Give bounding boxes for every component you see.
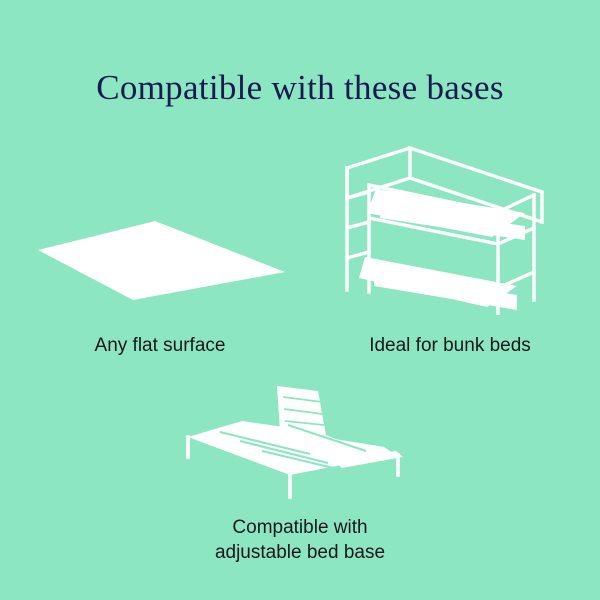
caption-bunk-beds: Ideal for bunk beds <box>300 333 600 358</box>
caption-adjustable-bed-base: Compatible with adjustable bed base <box>150 515 450 565</box>
flat-surface-illustration <box>18 195 308 315</box>
bunk-bed-illustration <box>312 140 592 315</box>
page-title: Compatible with these bases <box>0 68 600 108</box>
promo-graphic: Compatible with these bases <box>0 0 600 600</box>
caption-flat-surface: Any flat surface <box>10 333 310 358</box>
adjustable-bed-illustration <box>170 375 430 500</box>
